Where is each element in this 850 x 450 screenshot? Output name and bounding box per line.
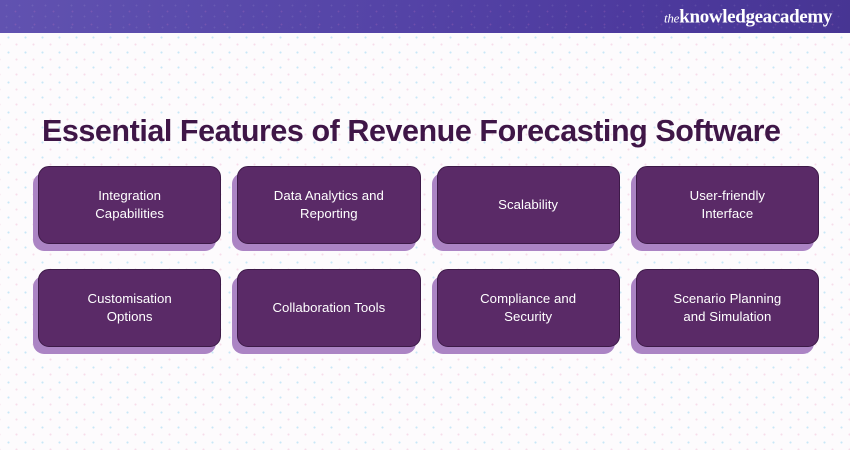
feature-card-data-analytics-and-reporting: Data Analytics and Reporting (232, 166, 420, 244)
logo-the-text: the (664, 10, 679, 25)
feature-card-integration-capabilities: Integration Capabilities (33, 166, 221, 244)
feature-card-compliance-and-security: Compliance and Security (432, 269, 620, 347)
feature-grid: Integration Capabilities Data Analytics … (33, 166, 819, 347)
feature-card-collaboration-tools: Collaboration Tools (232, 269, 420, 347)
feature-card-scalability: Scalability (432, 166, 620, 244)
infographic-page: theknowledgeacademy Essential Features o… (0, 0, 850, 450)
card-face: Scenario Planning and Simulation (636, 269, 819, 347)
brand-header-bar: theknowledgeacademy (0, 0, 850, 33)
card-face: Collaboration Tools (237, 269, 420, 347)
feature-card-scenario-planning-and-simulation: Scenario Planning and Simulation (631, 269, 819, 347)
logo-main-text: knowledgeacademy (679, 6, 832, 27)
feature-label: User-friendly Interface (690, 187, 765, 223)
feature-label: Data Analytics and Reporting (274, 187, 384, 223)
feature-label: Customisation Options (88, 290, 172, 326)
card-face: Integration Capabilities (38, 166, 221, 244)
feature-card-user-friendly-interface: User-friendly Interface (631, 166, 819, 244)
card-face: User-friendly Interface (636, 166, 819, 244)
feature-card-customisation-options: Customisation Options (33, 269, 221, 347)
card-face: Customisation Options (38, 269, 221, 347)
feature-label: Scenario Planning and Simulation (673, 290, 781, 326)
feature-label: Collaboration Tools (272, 299, 385, 317)
card-face: Compliance and Security (437, 269, 620, 347)
feature-label: Integration Capabilities (95, 187, 164, 223)
feature-label: Compliance and Security (480, 290, 576, 326)
page-title: Essential Features of Revenue Forecastin… (42, 114, 822, 149)
feature-label: Scalability (498, 196, 558, 214)
card-face: Data Analytics and Reporting (237, 166, 420, 244)
knowledge-academy-logo: theknowledgeacademy (664, 7, 832, 26)
card-face: Scalability (437, 166, 620, 244)
